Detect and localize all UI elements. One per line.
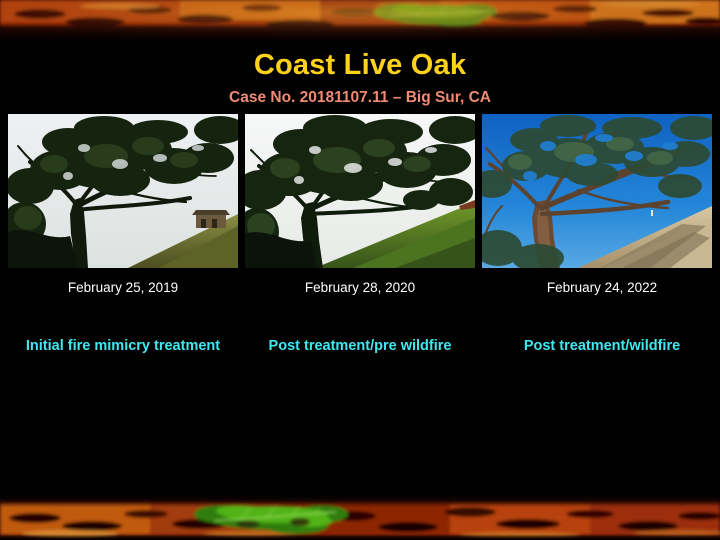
photo-oak-2019 [8,114,238,268]
autumn-leaves-graphic-top [0,0,720,42]
top-leaf-border [0,0,720,42]
note-cell-2: Post treatment/pre wildfire [245,337,475,356]
treatment-label-initial: Initial fire mimicry treatment [8,337,238,356]
date-label-2020: February 28, 2020 [245,279,475,296]
date-cell-3: February 24, 2022 [482,279,712,296]
date-label-2019: February 25, 2019 [8,279,238,296]
date-cell-1: February 25, 2019 [8,279,238,296]
note-cell-3: Post treatment/wildfire [482,337,712,356]
treatment-caption-row: Initial fire mimicry treatment Post trea… [8,337,712,356]
oak-tree-2020-image [245,114,475,268]
case-subtitle: Case No. 20181107.11 – Big Sur, CA [0,82,720,108]
treatment-label-post-pre-wildfire: Post treatment/pre wildfire [245,337,475,356]
oak-tree-2022-image [482,114,712,268]
date-cell-2: February 28, 2020 [245,279,475,296]
bottom-leaf-border [0,494,720,540]
oak-tree-2019-image [8,114,238,268]
autumn-leaves-graphic-bottom [0,494,720,540]
photo-oak-2022 [482,114,712,268]
title-block: Coast Live Oak Case No. 20181107.11 – Bi… [0,42,720,108]
date-label-2022: February 24, 2022 [482,279,712,296]
treatment-label-post-wildfire: Post treatment/wildfire [482,337,712,356]
note-cell-1: Initial fire mimicry treatment [8,337,238,356]
photo-row [8,114,712,268]
page-title: Coast Live Oak [0,42,720,82]
date-caption-row: February 25, 2019 February 28, 2020 Febr… [8,279,712,296]
photo-oak-2020 [245,114,475,268]
